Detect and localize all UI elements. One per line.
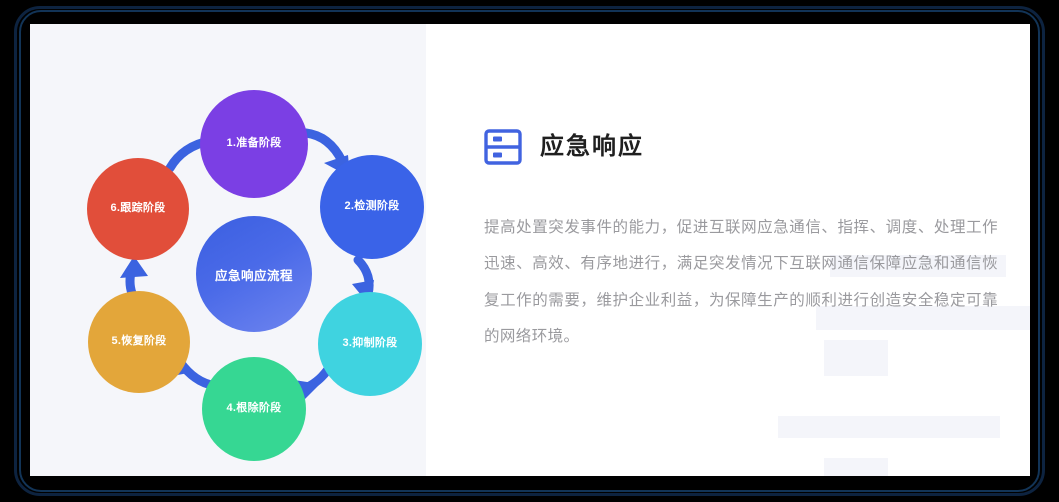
cycle-node-label: 5.恢复阶段: [112, 335, 167, 348]
cycle-node-label: 3.抑制阶段: [343, 337, 398, 350]
page-title: 应急响应: [540, 135, 644, 159]
info-content: 应急响应 提高处置突发事件的能力，促进互联网应急通信、指挥、调度、处理工作迅速、…: [426, 24, 1030, 356]
diagram-panel: 1.准备阶段 2.检测阶段 3.抑制阶段 4.根除阶段 5.恢复阶段 6.跟踪阶…: [30, 24, 426, 476]
cycle-center-label: 应急响应流程: [215, 265, 293, 284]
cycle-node-eradication[interactable]: 4.根除阶段: [202, 357, 306, 461]
cycle-node-label: 1.准备阶段: [227, 137, 282, 150]
content-card: 1.准备阶段 2.检测阶段 3.抑制阶段 4.根除阶段 5.恢复阶段 6.跟踪阶…: [30, 24, 1030, 476]
cycle-node-preparation[interactable]: 1.准备阶段: [200, 90, 308, 198]
decorative-block: [778, 416, 1000, 438]
cycle-node-followup[interactable]: 6.跟踪阶段: [87, 158, 189, 260]
info-panel: 应急响应 提高处置突发事件的能力，促进互联网应急通信、指挥、调度、处理工作迅速、…: [426, 24, 1030, 476]
emergency-response-cycle-diagram: 1.准备阶段 2.检测阶段 3.抑制阶段 4.根除阶段 5.恢复阶段 6.跟踪阶…: [30, 24, 426, 476]
panel-headline: 应急响应: [484, 128, 1002, 166]
cycle-node-label: 6.跟踪阶段: [111, 202, 166, 215]
cycle-node-label: 4.根除阶段: [227, 402, 282, 415]
app-frame: 1.准备阶段 2.检测阶段 3.抑制阶段 4.根除阶段 5.恢复阶段 6.跟踪阶…: [0, 0, 1059, 502]
cycle-node-detection[interactable]: 2.检测阶段: [320, 155, 424, 259]
panel-description: 提高处置突发事件的能力，促进互联网应急通信、指挥、调度、处理工作迅速、高效、有序…: [484, 210, 998, 356]
decorative-block: [824, 458, 888, 476]
cycle-node-recovery[interactable]: 5.恢复阶段: [88, 291, 190, 393]
cycle-node-containment[interactable]: 3.抑制阶段: [318, 292, 422, 396]
cycle-node-label: 2.检测阶段: [345, 200, 400, 213]
cycle-center-node[interactable]: 应急响应流程: [196, 216, 312, 332]
server-rack-icon: [484, 128, 522, 166]
